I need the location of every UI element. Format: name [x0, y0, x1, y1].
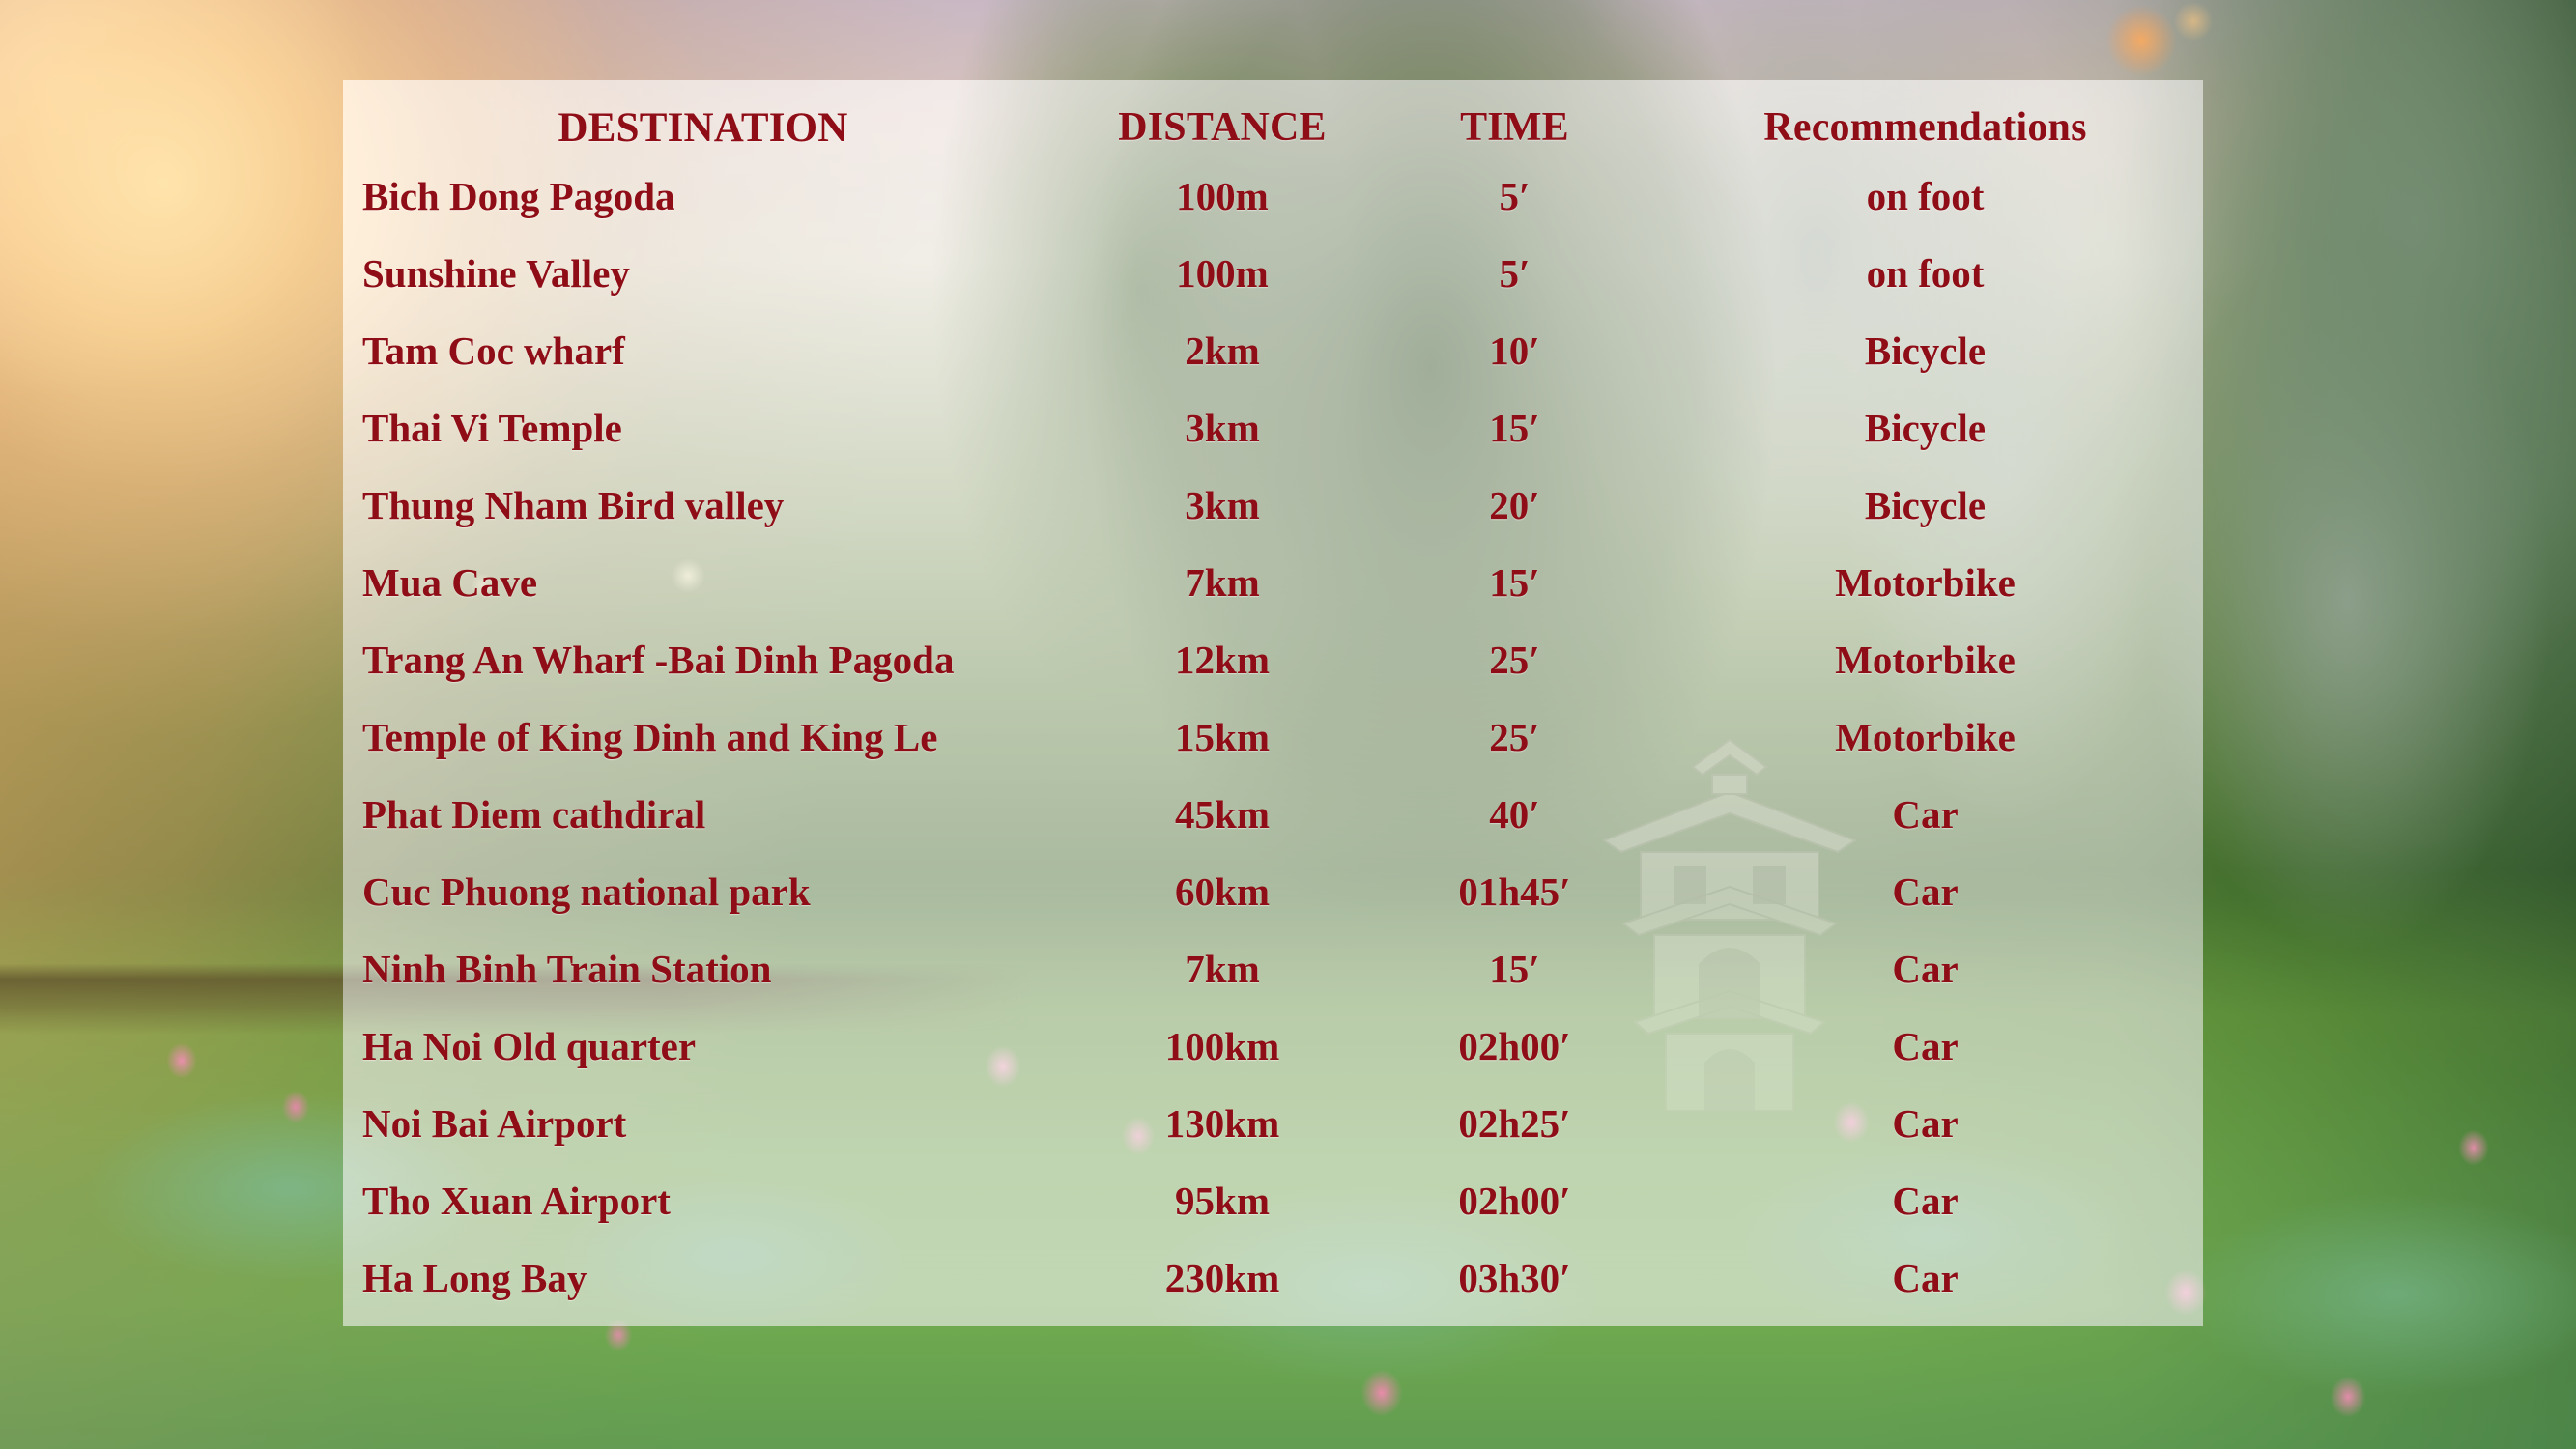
screenshot-stage: DESTINATION DISTANCE TIME Recommendation… — [0, 0, 2576, 1449]
cell-distance: 130km — [1063, 1085, 1382, 1162]
cell-time: 15′ — [1382, 930, 1647, 1008]
table-row: Mua Cave7km15′Motorbike — [343, 544, 2203, 621]
cell-distance: 95km — [1063, 1162, 1382, 1239]
cell-time: 20′ — [1382, 467, 1647, 544]
cell-recommendation: Car — [1647, 1008, 2203, 1085]
cell-distance: 230km — [1063, 1239, 1382, 1317]
cell-time: 15′ — [1382, 544, 1647, 621]
column-header-recommendations: Recommendations — [1647, 98, 2203, 157]
cell-destination: Bich Dong Pagoda — [343, 157, 1063, 235]
cell-recommendation: Motorbike — [1647, 698, 2203, 776]
cell-recommendation: on foot — [1647, 157, 2203, 235]
cell-destination: Ha Long Bay — [343, 1239, 1063, 1317]
header-row: DESTINATION DISTANCE TIME Recommendation… — [343, 98, 2203, 157]
cell-destination: Tho Xuan Airport — [343, 1162, 1063, 1239]
cell-recommendation: Car — [1647, 853, 2203, 930]
cell-destination: Tam Coc wharf — [343, 312, 1063, 389]
table-row: Ninh Binh Train Station7km15′Car — [343, 930, 2203, 1008]
cell-destination: Thai Vi Temple — [343, 389, 1063, 467]
table-row: Cuc Phuong national park60km01h45′Car — [343, 853, 2203, 930]
cell-distance: 100m — [1063, 157, 1382, 235]
cell-destination: Temple of King Dinh and King Le — [343, 698, 1063, 776]
cell-recommendation: Motorbike — [1647, 621, 2203, 698]
cell-time: 25′ — [1382, 698, 1647, 776]
table-row: Phat Diem cathdiral45km40′Car — [343, 776, 2203, 853]
cell-destination: Trang An Wharf -Bai Dinh Pagoda — [343, 621, 1063, 698]
cell-recommendation: Car — [1647, 1239, 2203, 1317]
cell-recommendation: Car — [1647, 930, 2203, 1008]
cell-distance: 2km — [1063, 312, 1382, 389]
column-header-time: TIME — [1382, 98, 1647, 157]
table-body: Bich Dong Pagoda100m5′on footSunshine Va… — [343, 157, 2203, 1317]
table-row: Thung Nham Bird valley3km20′Bicycle — [343, 467, 2203, 544]
cell-recommendation: Bicycle — [1647, 389, 2203, 467]
cell-recommendation: Motorbike — [1647, 544, 2203, 621]
table-row: Ha Noi Old quarter100km02h00′Car — [343, 1008, 2203, 1085]
cell-destination: Thung Nham Bird valley — [343, 467, 1063, 544]
column-header-distance: DISTANCE — [1063, 98, 1382, 157]
table-row: Temple of King Dinh and King Le15km25′Mo… — [343, 698, 2203, 776]
cell-distance: 12km — [1063, 621, 1382, 698]
cell-destination: Ha Noi Old quarter — [343, 1008, 1063, 1085]
cell-destination: Ninh Binh Train Station — [343, 930, 1063, 1008]
cell-time: 02h25′ — [1382, 1085, 1647, 1162]
cell-recommendation: Car — [1647, 1085, 2203, 1162]
cell-recommendation: Bicycle — [1647, 312, 2203, 389]
cell-destination: Noi Bai Airport — [343, 1085, 1063, 1162]
cell-recommendation: on foot — [1647, 235, 2203, 312]
cell-time: 25′ — [1382, 621, 1647, 698]
cell-time: 03h30′ — [1382, 1239, 1647, 1317]
cell-destination: Phat Diem cathdiral — [343, 776, 1063, 853]
destination-distance-table: DESTINATION DISTANCE TIME Recommendation… — [343, 98, 2203, 1317]
cell-time: 15′ — [1382, 389, 1647, 467]
table-row: Bich Dong Pagoda100m5′on foot — [343, 157, 2203, 235]
table-row: Thai Vi Temple3km15′Bicycle — [343, 389, 2203, 467]
cell-recommendation: Bicycle — [1647, 467, 2203, 544]
cell-destination: Mua Cave — [343, 544, 1063, 621]
table-header: DESTINATION DISTANCE TIME Recommendation… — [343, 98, 2203, 157]
cell-time: 02h00′ — [1382, 1162, 1647, 1239]
cell-distance: 15km — [1063, 698, 1382, 776]
table-row: Tam Coc wharf2km10′Bicycle — [343, 312, 2203, 389]
cell-time: 40′ — [1382, 776, 1647, 853]
table-row: Sunshine Valley100m5′on foot — [343, 235, 2203, 312]
cell-time: 01h45′ — [1382, 853, 1647, 930]
cell-time: 5′ — [1382, 157, 1647, 235]
cell-time: 10′ — [1382, 312, 1647, 389]
cell-distance: 7km — [1063, 544, 1382, 621]
table-row: Trang An Wharf -Bai Dinh Pagoda12km25′Mo… — [343, 621, 2203, 698]
cell-distance: 60km — [1063, 853, 1382, 930]
cell-distance: 3km — [1063, 389, 1382, 467]
table-row: Noi Bai Airport130km02h25′Car — [343, 1085, 2203, 1162]
schedule-panel: DESTINATION DISTANCE TIME Recommendation… — [343, 80, 2203, 1326]
cell-destination: Cuc Phuong national park — [343, 853, 1063, 930]
cell-destination: Sunshine Valley — [343, 235, 1063, 312]
cell-distance: 3km — [1063, 467, 1382, 544]
cell-time: 5′ — [1382, 235, 1647, 312]
cell-distance: 100m — [1063, 235, 1382, 312]
cell-recommendation: Car — [1647, 1162, 2203, 1239]
cell-distance: 7km — [1063, 930, 1382, 1008]
table-row: Tho Xuan Airport95km02h00′Car — [343, 1162, 2203, 1239]
cell-recommendation: Car — [1647, 776, 2203, 853]
column-header-destination: DESTINATION — [343, 98, 1063, 157]
cell-distance: 45km — [1063, 776, 1382, 853]
table-row: Ha Long Bay230km03h30′Car — [343, 1239, 2203, 1317]
cell-distance: 100km — [1063, 1008, 1382, 1085]
cell-time: 02h00′ — [1382, 1008, 1647, 1085]
